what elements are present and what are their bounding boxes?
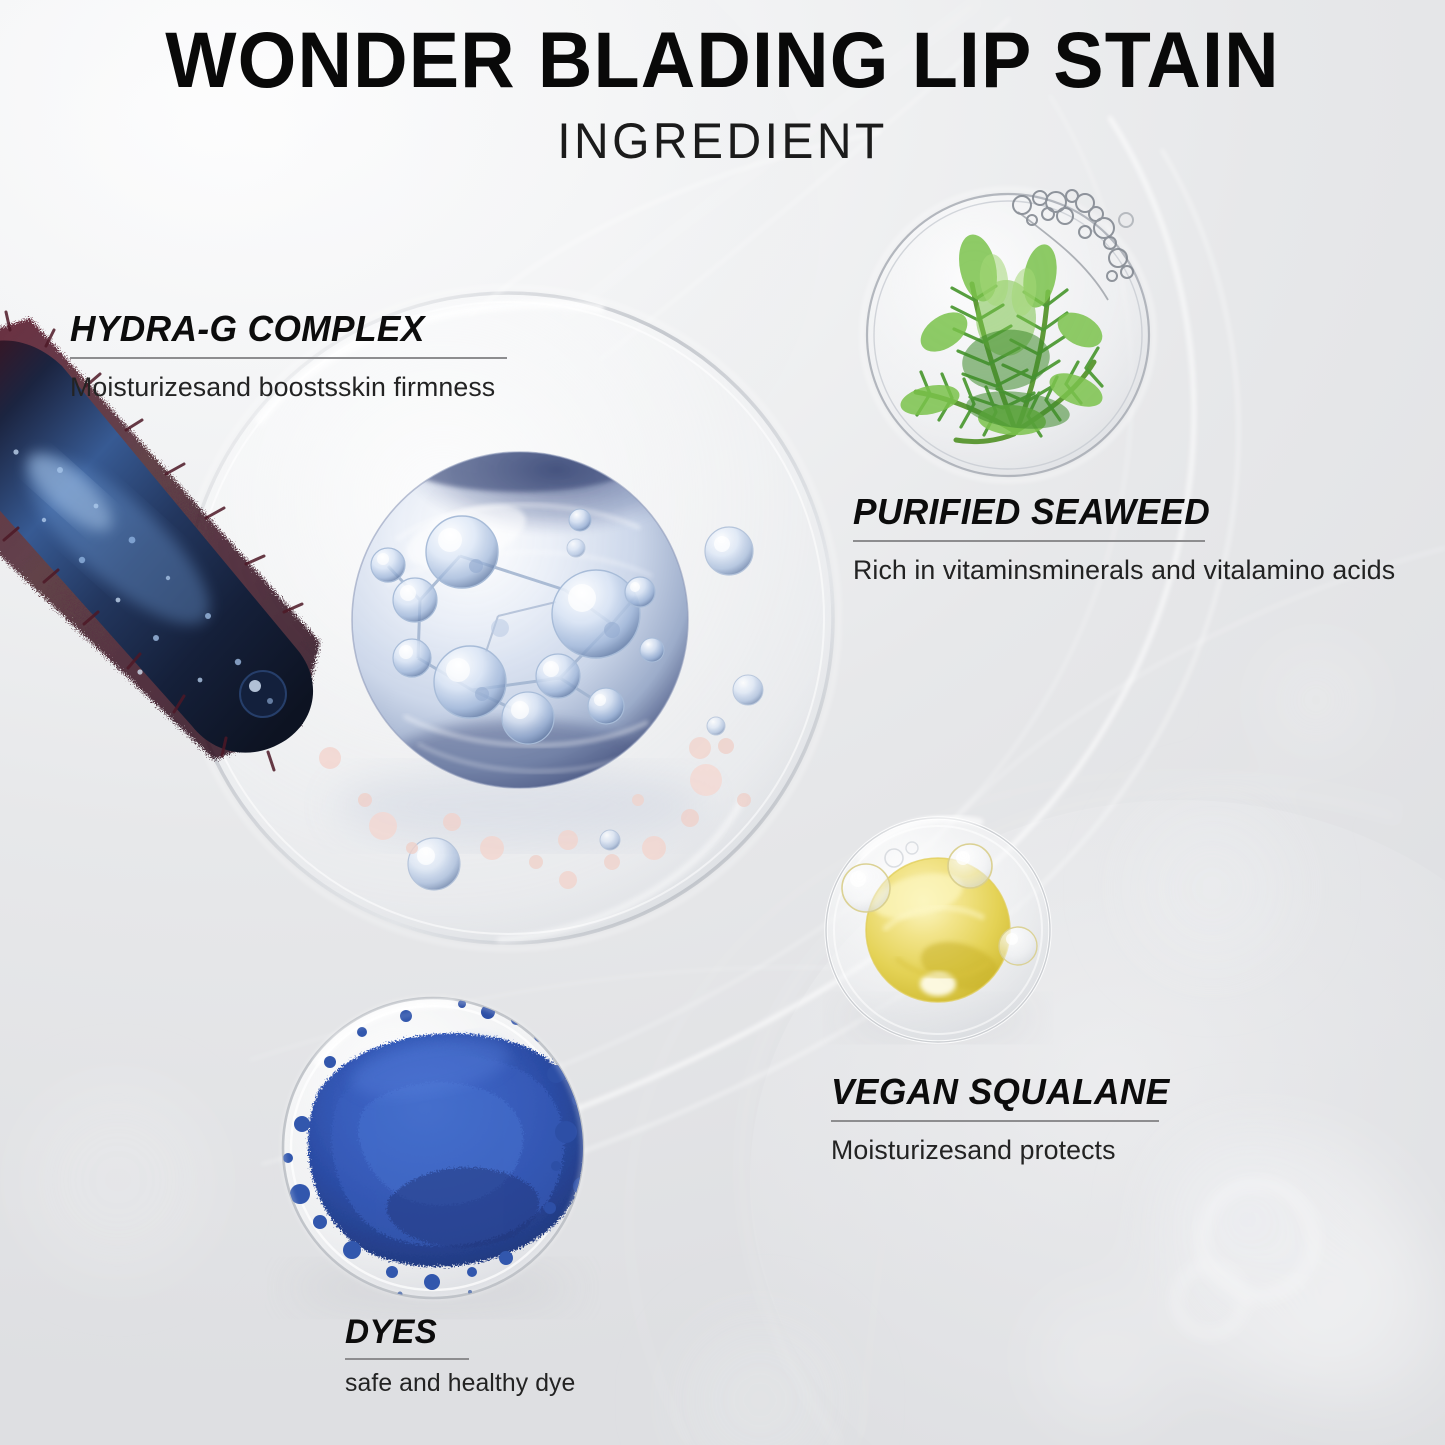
ingredient-name: PURIFIED SEAWEED — [853, 493, 1390, 531]
blue-pigment-powder — [264, 990, 615, 1297]
page-title: WONDER BLADING LIP STAIN — [33, 14, 1413, 106]
ingredient-description: Rich in vitaminsminerals and vitalamino … — [853, 555, 1395, 586]
ingredient-rule — [345, 1358, 469, 1360]
ingredient-name: DYES — [345, 1315, 573, 1351]
ingredient-description: Moisturizesand boostsskin firmness — [70, 372, 503, 403]
ingredient-rule — [853, 540, 1205, 542]
background-artwork — [0, 0, 1445, 1445]
rose-droplets — [319, 737, 751, 889]
ingredient-rule — [831, 1120, 1159, 1122]
water-molecule-sphere — [319, 404, 763, 890]
floating-bubbles — [408, 527, 763, 890]
rim-bubble-cluster — [1013, 190, 1133, 300]
oil-satellite-bubbles — [842, 842, 1037, 965]
ingredient-rule — [70, 357, 507, 359]
ingredient-name: HYDRA-G COMPLEX — [70, 310, 498, 348]
ingredient-label-vegan-squalane: VEGAN SQUALANE Moisturizesand protects — [831, 1073, 1177, 1166]
dyes-powder-dish — [264, 990, 615, 1314]
ingredient-description: Moisturizesand protects — [831, 1135, 1173, 1166]
infographic-canvas: WONDER BLADING LIP STAIN INGREDIENT HYDR… — [0, 0, 1445, 1445]
ingredient-label-dyes: DYES safe and healthy dye — [345, 1315, 578, 1398]
ingredient-label-hydra-g-complex: HYDRA-G COMPLEX Moisturizesand boostsski… — [70, 310, 507, 403]
vegan-squalane-bubble — [826, 818, 1050, 1042]
molecule-atoms — [371, 509, 664, 744]
ingredient-description: safe and healthy dye — [345, 1369, 575, 1398]
ingredient-name: VEGAN SQUALANE — [831, 1073, 1170, 1111]
seaweed-frond — [898, 231, 1108, 442]
ingredient-label-purified-seaweed: PURIFIED SEAWEED Rich in vitaminsmineral… — [853, 493, 1401, 586]
page-subtitle: INGREDIENT — [29, 112, 1416, 170]
foreground-sheen — [0, 0, 1445, 1445]
purified-seaweed-circle — [862, 189, 1154, 481]
